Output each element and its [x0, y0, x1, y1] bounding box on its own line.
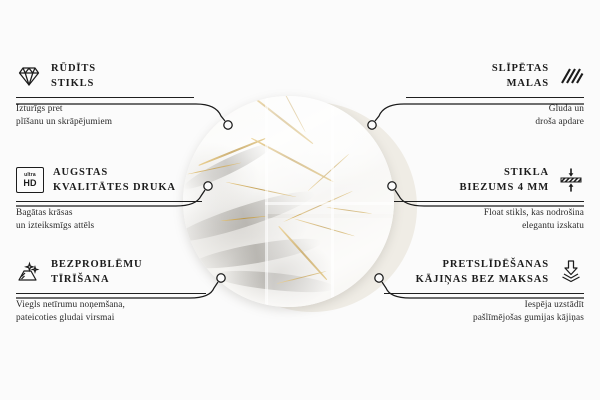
feature-title-line1: AUGSTAS [53, 166, 176, 179]
feature-description: Viegls netīrumu noņemšana, pateicoties g… [16, 299, 206, 325]
feature-titles: SLĪPĒTAS MALAS [492, 62, 549, 91]
feature-title-line2: KVALITĀTES DRUKA [53, 181, 176, 194]
feature-divider [384, 293, 584, 294]
feature-title-line1: PRETSLĪDĒŠANAS [443, 258, 549, 271]
feature-glass-thickness: STIKLA BIEZUMS 4 MM Float stikls, [394, 166, 584, 233]
infographic-canvas: RŪDĪTS STIKLS Izturīgs pret plīšanu un s… [0, 0, 600, 400]
feature-description: Izturīgs pret plīšanu un skrāpējumiem [16, 103, 194, 129]
feature-title-line1: STIKLA [504, 166, 549, 179]
feature-header: PRETSLĪDĒŠANAS KĀJIŅAS BEZ MAKSAS [384, 258, 584, 287]
polished-edge-icon [558, 63, 584, 89]
feature-divider [394, 201, 584, 202]
connector-dot-2 [204, 182, 212, 190]
feature-title-line1: BEZPROBLĒMU [51, 258, 143, 271]
feature-titles: PRETSLĪDĒŠANAS KĀJIŅAS BEZ MAKSAS [416, 258, 549, 287]
connector-dot-4 [368, 121, 376, 129]
feature-divider [16, 201, 202, 202]
feature-easy-cleaning: BEZPROBLĒMU TĪRĪŠANA Viegls netīrumu noņ… [16, 258, 206, 325]
feature-description: Float stikls, kas nodrošina elegantu izs… [394, 207, 584, 233]
feature-title-line1: RŪDĪTS [51, 62, 96, 75]
feature-header: STIKLA BIEZUMS 4 MM [394, 166, 584, 195]
connector-dot-1 [224, 121, 232, 129]
feature-description: Iespēja uzstādīt pašlīmējošas gumijas kā… [384, 299, 584, 325]
feature-tempered-glass: RŪDĪTS STIKLS Izturīgs pret plīšanu un s… [16, 62, 194, 129]
feature-title-line2: KĀJIŅAS BEZ MAKSAS [416, 273, 549, 286]
diamond-icon [16, 63, 42, 89]
feature-title-line2: STIKLS [51, 77, 96, 90]
feature-titles: STIKLA BIEZUMS 4 MM [460, 166, 549, 195]
ultra-hd-badge-icon: ultra HD [16, 167, 44, 193]
feature-titles: BEZPROBLĒMU TĪRĪŠANA [51, 258, 143, 287]
feature-anti-slip-feet: PRETSLĪDĒŠANAS KĀJIŅAS BEZ MAKSAS Iespēj… [384, 258, 584, 325]
feature-divider [16, 97, 194, 98]
glass-thickness-icon [558, 167, 584, 193]
feature-polished-edges: SLĪPĒTAS MALAS Gluda un droša apdare [406, 62, 584, 129]
feature-high-quality-print: ultra HD AUGSTAS KVALITĀTES DRUKA Bagāta… [16, 166, 202, 233]
connector-dot-6 [375, 274, 383, 282]
feature-header: RŪDĪTS STIKLS [16, 62, 194, 91]
feature-header: SLĪPĒTAS MALAS [406, 62, 584, 91]
cleaning-sponge-icon [16, 259, 42, 285]
feature-title-line2: MALAS [507, 77, 549, 90]
ultra-hd-badge-bottom: HD [23, 179, 36, 188]
anti-slip-pad-icon [558, 259, 584, 285]
feature-divider [16, 293, 206, 294]
feature-titles: AUGSTAS KVALITĀTES DRUKA [53, 166, 176, 195]
feature-description: Bagātas krāsas un izteiksmīgs attēls [16, 207, 202, 233]
feature-title-line2: BIEZUMS 4 MM [460, 181, 549, 194]
feature-titles: RŪDĪTS STIKLS [51, 62, 96, 91]
connector-dot-3 [217, 274, 225, 282]
feature-header: ultra HD AUGSTAS KVALITĀTES DRUKA [16, 166, 202, 195]
feature-description: Gluda un droša apdare [406, 103, 584, 129]
feature-title-line1: SLĪPĒTAS [492, 62, 549, 75]
feature-header: BEZPROBLĒMU TĪRĪŠANA [16, 258, 206, 287]
feature-title-line2: TĪRĪŠANA [51, 273, 143, 286]
feature-divider [406, 97, 584, 98]
